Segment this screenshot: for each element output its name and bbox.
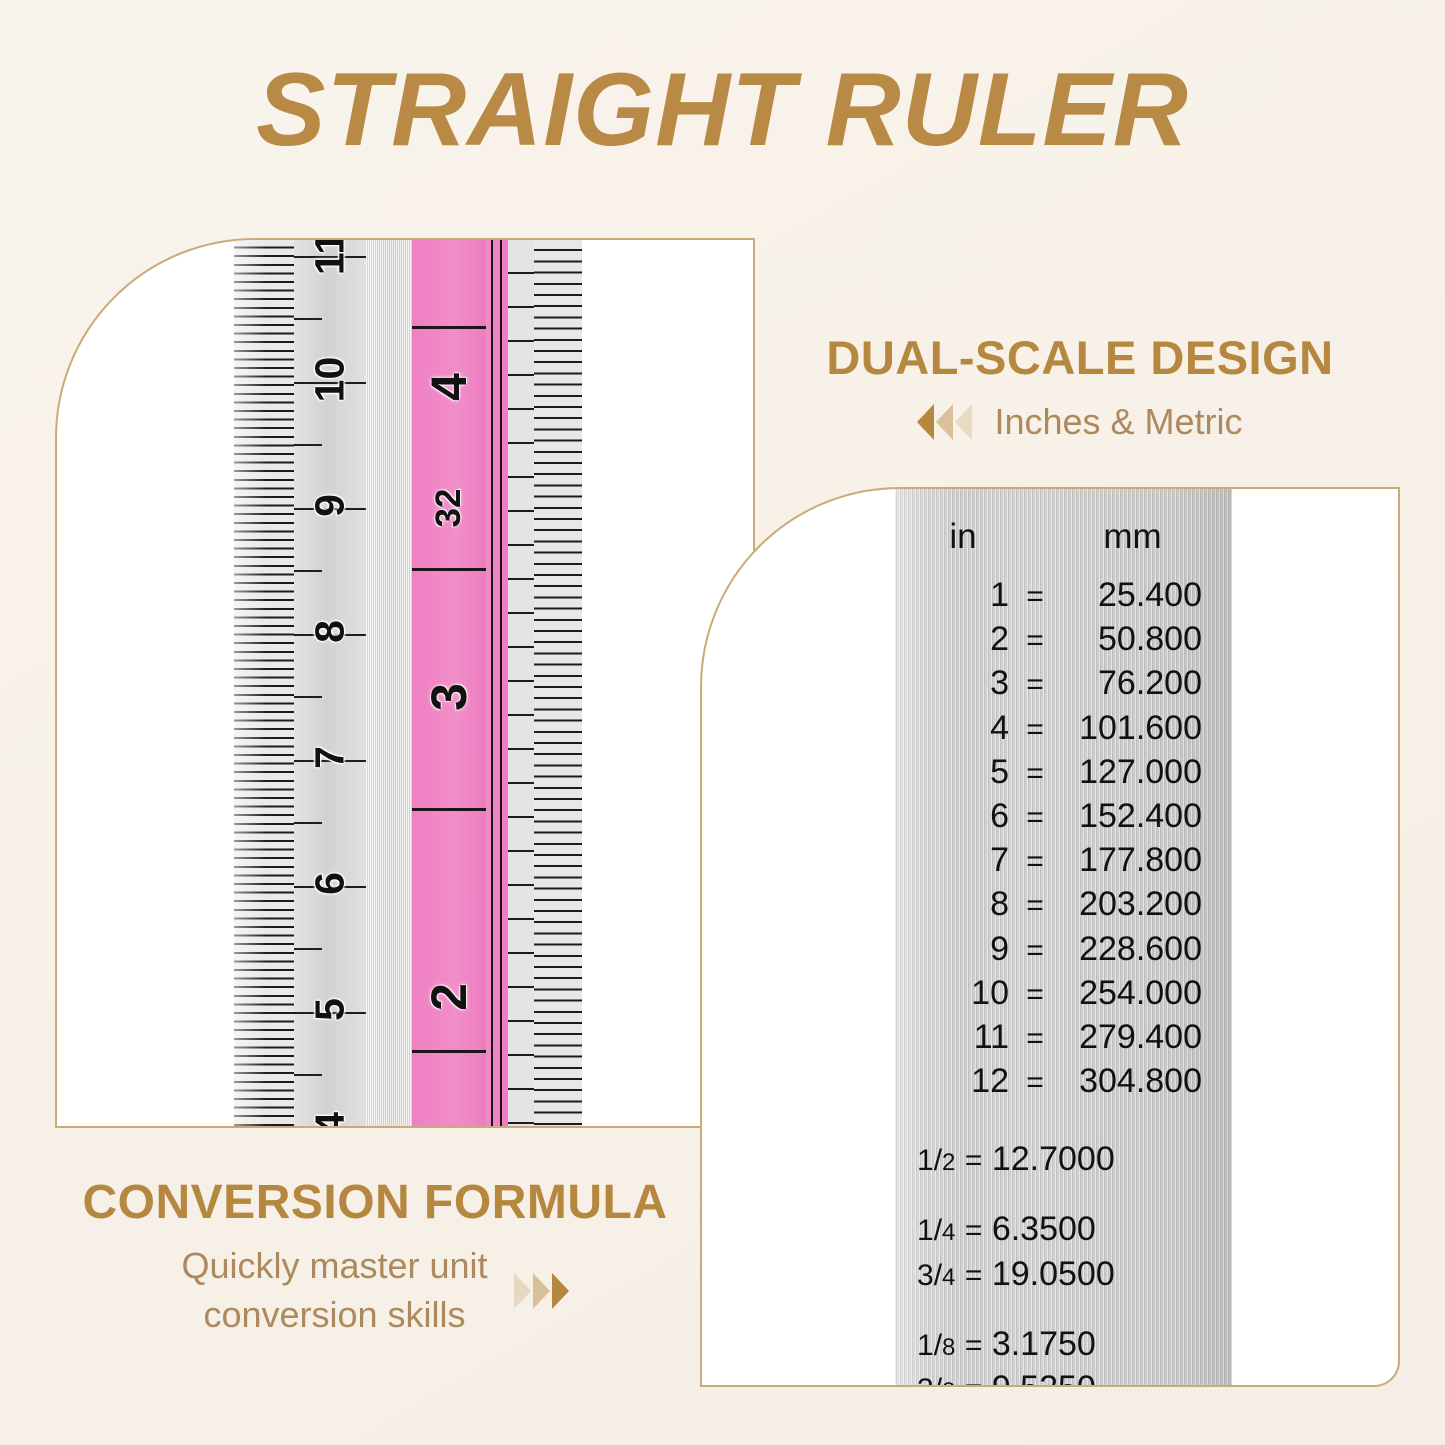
conversion-formula-subtitle-line1: Quickly master unit: [181, 1245, 487, 1286]
centimeter-number-column: 11 10 9 8 7 6 5 4: [294, 238, 366, 1128]
table-row: 3=76.200: [917, 661, 1210, 705]
inch-fraction-tick-column: [534, 238, 582, 1128]
table-row: 2=50.800: [917, 617, 1210, 661]
inch-rail-lines: [486, 238, 508, 1128]
column-header-millimeters: mm: [1061, 517, 1210, 557]
table-row: 12=304.800: [917, 1059, 1210, 1103]
table-row: 9=228.600: [917, 927, 1210, 971]
inch-label: 3: [420, 660, 478, 734]
metric-label: 5: [307, 974, 354, 1046]
table-row: 1/2 = 12.7000: [917, 1137, 1123, 1181]
conversion-formula-feature: CONVERSION FORMULA Quickly master unit c…: [45, 1175, 705, 1339]
metal-table-plate: in mm 1=25.400 2=50.800 3=76.200 4=101.6…: [895, 487, 1232, 1387]
conversion-table: in mm 1=25.400 2=50.800 3=76.200 4=101.6…: [895, 487, 1232, 1387]
brushed-metal-strip: [366, 238, 412, 1128]
conversion-table-card: in mm 1=25.400 2=50.800 3=76.200 4=101.6…: [700, 487, 1400, 1387]
inch-scale-band: 4 32 3 2: [412, 238, 486, 1128]
metric-label: 11: [307, 238, 354, 290]
ruler-photo-card: 11 10 9 8 7 6 5 4 4 32 3 2: [55, 238, 755, 1128]
inch-subdivision-label: 32: [429, 471, 469, 545]
dual-scale-feature: DUAL-SCALE DESIGN Inches & Metric: [760, 330, 1400, 443]
inch-label: 2: [420, 960, 478, 1034]
inch-label: 4: [420, 350, 478, 424]
conversion-formula-subtitle-line2: conversion skills: [203, 1294, 465, 1335]
chevron-right-group: [514, 1273, 569, 1309]
metric-label: 6: [307, 848, 354, 920]
table-row: 3/4 = 19.0500: [917, 1252, 1123, 1296]
metric-label: 8: [307, 596, 354, 668]
dual-scale-subtitle: Inches & Metric: [994, 401, 1242, 443]
chevron-left-icon: [936, 404, 953, 440]
table-row: 3/8 = 9.5250: [917, 1366, 1104, 1387]
table-row: 8=203.200: [917, 882, 1210, 926]
page-title: STRAIGHT RULER: [0, 56, 1445, 165]
table-row: 1/4 = 6.3500: [917, 1207, 1104, 1251]
dual-scale-heading: DUAL-SCALE DESIGN: [760, 330, 1400, 385]
table-row: 1=25.400: [917, 573, 1210, 617]
table-row: 6=152.400: [917, 794, 1210, 838]
table-row: 10=254.000: [917, 971, 1210, 1015]
metric-label: 10: [307, 344, 354, 416]
table-row: 1/8 = 3.1750: [917, 1322, 1104, 1366]
chevron-left-group: [917, 404, 972, 440]
conversion-formula-heading: CONVERSION FORMULA: [45, 1175, 705, 1230]
metric-label: 4: [307, 1088, 354, 1129]
chevron-left-icon: [917, 404, 934, 440]
table-row: 4=101.600: [917, 706, 1210, 750]
inch-major-tick-column: [508, 238, 534, 1128]
table-header-row: in mm: [917, 517, 1210, 557]
conversion-formula-subtitle: Quickly master unit conversion skills: [181, 1242, 487, 1339]
column-header-inches: in: [917, 517, 1009, 557]
table-row: 11=279.400: [917, 1015, 1210, 1059]
chevron-left-icon: [955, 404, 972, 440]
table-row: 7=177.800: [917, 838, 1210, 882]
chevron-right-icon: [514, 1273, 531, 1309]
millimeter-tick-column: [234, 238, 294, 1128]
metric-label: 7: [307, 722, 354, 794]
chevron-right-icon: [552, 1273, 569, 1309]
chevron-right-icon: [533, 1273, 550, 1309]
ruler-image: 11 10 9 8 7 6 5 4 4 32 3 2: [234, 238, 582, 1128]
table-row: 5=127.000: [917, 750, 1210, 794]
metric-label: 9: [307, 470, 354, 542]
